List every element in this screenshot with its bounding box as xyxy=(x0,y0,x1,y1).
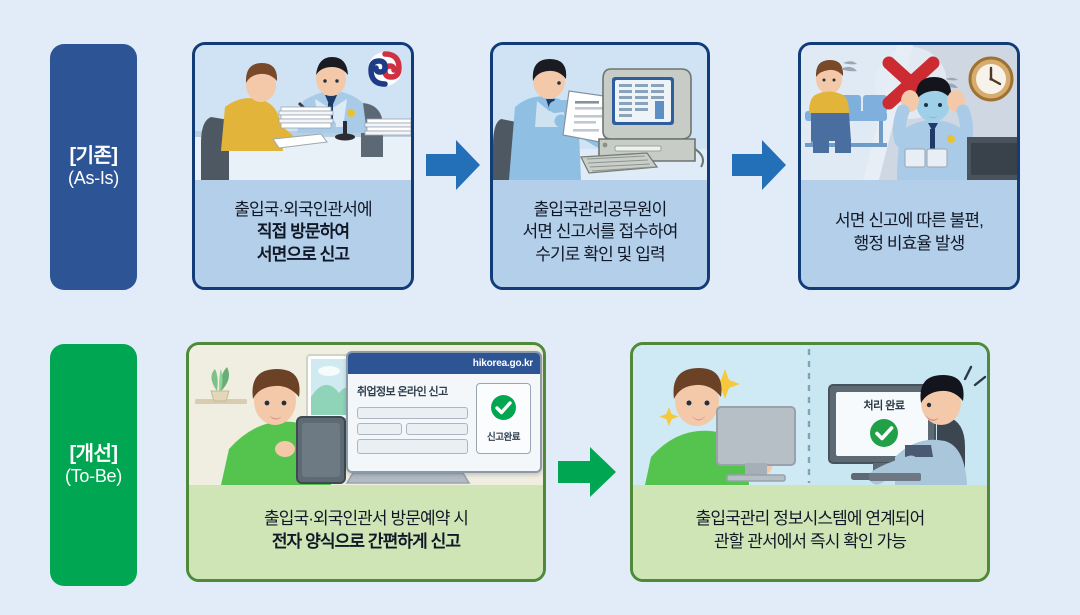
hikorea-form-header: hikorea.go.kr xyxy=(348,353,540,374)
row-label-as-is-sub: (As-Is) xyxy=(68,168,119,190)
caption-line: 출입국관리공무원이 xyxy=(534,199,667,222)
caption-line: 관할 관서에서 즉시 확인 가능 xyxy=(714,531,906,554)
panel-as-is-2-illustration xyxy=(493,45,707,180)
diagram-canvas: [기존] (As-Is) xyxy=(0,0,1080,615)
hikorea-site-label: hikorea.go.kr xyxy=(473,358,533,369)
korea-government-emblem-art xyxy=(368,52,402,86)
green-check-circle-icon xyxy=(490,394,517,426)
row-label-as-is: [기존] (As-Is) xyxy=(50,44,137,290)
processing-complete-label: 처리 완료 xyxy=(863,397,904,413)
panel-to-be-2: 처리 완료 출입국관리 정보시스템에 연계되어 관할 관서에서 즉시 확인 가능 xyxy=(630,342,990,582)
caption-line: 서면 신고에 따른 불편, xyxy=(835,210,983,233)
row-label-to-be-sub: (To-Be) xyxy=(65,466,122,488)
form-field-2[interactable] xyxy=(357,423,402,435)
panel-as-is-3: 서면 신고에 따른 불편, 행정 비효율 발생 xyxy=(798,42,1020,290)
panel-as-is-2: 출입국관리공무원이 서면 신고서를 접수하여 수기로 확인 및 입력 xyxy=(490,42,710,290)
panel-to-be-1-illustration: hikorea.go.kr 취업정보 온라인 신고 xyxy=(189,345,543,485)
hikorea-form-title: 취업정보 온라인 신고 xyxy=(357,383,468,399)
panel-as-is-1-caption: 출입국·외국인관서에 직접 방문하여 서면으로 신고 xyxy=(195,180,411,287)
caption-line: 출입국·외국인관서에 xyxy=(234,199,371,222)
form-field-1[interactable] xyxy=(357,407,468,419)
panel-to-be-1: hikorea.go.kr 취업정보 온라인 신고 xyxy=(186,342,546,582)
officer-screen-content: 처리 완료 xyxy=(840,394,928,456)
tablet-art xyxy=(297,417,345,483)
submission-status-label: 신고완료 xyxy=(487,429,520,443)
panel-as-is-3-illustration xyxy=(801,45,1017,180)
caption-line: 전자 양식으로 간편하게 신고 xyxy=(272,531,460,554)
submission-status-card: 신고완료 xyxy=(476,383,531,454)
caption-line: 수기로 확인 및 입력 xyxy=(535,244,664,267)
caption-line: 서면으로 신고 xyxy=(257,244,349,267)
arrow-right-icon xyxy=(556,443,618,501)
panel-to-be-2-caption: 출입국관리 정보시스템에 연계되어 관할 관서에서 즉시 확인 가능 xyxy=(633,485,987,579)
hikorea-form-mockup: hikorea.go.kr 취업정보 온라인 신고 xyxy=(346,351,542,473)
caption-line: 출입국관리 정보시스템에 연계되어 xyxy=(696,508,925,531)
caption-line: 행정 비효율 발생 xyxy=(854,233,965,256)
green-check-circle-icon xyxy=(869,418,899,453)
form-field-3[interactable] xyxy=(406,423,468,435)
arrow-right-icon xyxy=(730,134,788,196)
panel-to-be-2-illustration: 처리 완료 xyxy=(633,345,987,485)
arrow-right-icon xyxy=(424,134,482,196)
panel-to-be-1-caption: 출입국·외국인관서 방문예약 시 전자 양식으로 간편하게 신고 xyxy=(189,485,543,579)
wall-clock-art xyxy=(970,58,1012,100)
form-field-4[interactable] xyxy=(357,439,468,454)
row-label-to-be-main: [개선] xyxy=(69,442,117,466)
panel-as-is-2-caption: 출입국관리공무원이 서면 신고서를 접수하여 수기로 확인 및 입력 xyxy=(493,180,707,287)
crt-monitor-art xyxy=(599,69,695,161)
caption-line: 출입국·외국인관서 방문예약 시 xyxy=(264,508,468,531)
row-label-to-be: [개선] (To-Be) xyxy=(50,344,137,586)
caption-line: 직접 방문하여 xyxy=(257,221,349,244)
panel-as-is-1: 출입국·외국인관서에 직접 방문하여 서면으로 신고 xyxy=(192,42,414,290)
caption-line: 서면 신고서를 접수하여 xyxy=(522,221,677,244)
panel-as-is-3-caption: 서면 신고에 따른 불편, 행정 비효율 발생 xyxy=(801,180,1017,287)
panel-as-is-1-illustration xyxy=(195,45,411,180)
row-label-as-is-main: [기존] xyxy=(69,144,117,168)
